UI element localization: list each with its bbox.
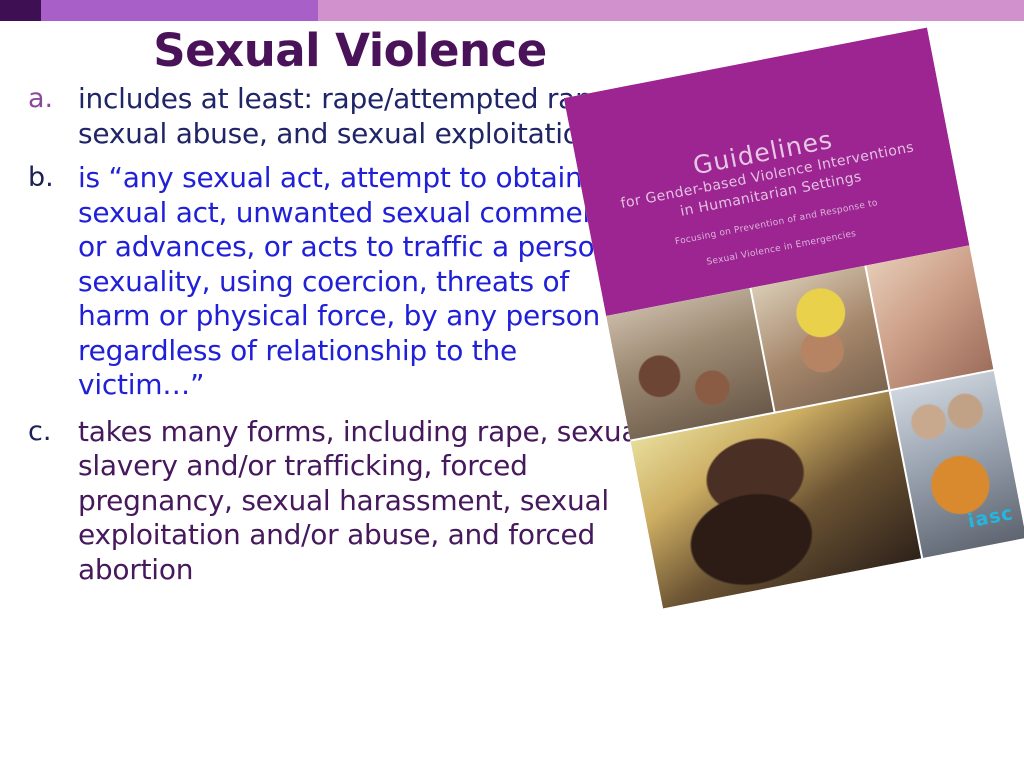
cover-photo-collage: iasc	[606, 245, 1024, 608]
list-item-a: a. includes at least: rape/attempted rap…	[16, 82, 646, 151]
list-text-b: is “any sexual act, attempt to obtain a …	[78, 161, 646, 403]
list-item-b: b. is “any sexual act, attempt to obtain…	[16, 161, 646, 403]
cover-image-container: Guidelines for Gender-based Violence Int…	[600, 40, 1020, 660]
slide-canvas: Sexual Violence a. includes at least: ra…	[0, 0, 1024, 768]
top-decorative-bar	[0, 0, 1024, 21]
list-marker-c: c.	[16, 415, 78, 449]
list-marker-b: b.	[16, 161, 78, 195]
man-on-phone-photo	[631, 391, 921, 608]
close-up-face-photo	[866, 245, 994, 389]
cover-focus-line2: Sexual Violence in Emergencies	[599, 207, 964, 289]
topbar-segment-dark	[0, 0, 41, 21]
topbar-segment-light	[318, 0, 1024, 21]
woman-yellow-headscarf-with-child-photo	[752, 266, 888, 411]
list-text-c: takes many forms, including rape, sexual…	[78, 415, 646, 588]
page-title: Sexual Violence	[0, 26, 700, 76]
list-text-a: includes at least: rape/attempted rape, …	[78, 82, 646, 151]
iasc-logo: iasc	[966, 502, 1015, 532]
list-marker-a: a.	[16, 82, 78, 116]
group-of-boys-photo: iasc	[890, 371, 1024, 558]
body-list: a. includes at least: rape/attempted rap…	[16, 82, 646, 593]
topbar-segment-medium	[41, 0, 318, 21]
cover-focus-line1: Focusing on Prevention of and Response t…	[594, 182, 959, 264]
list-item-c: c. takes many forms, including rape, sex…	[16, 415, 646, 588]
